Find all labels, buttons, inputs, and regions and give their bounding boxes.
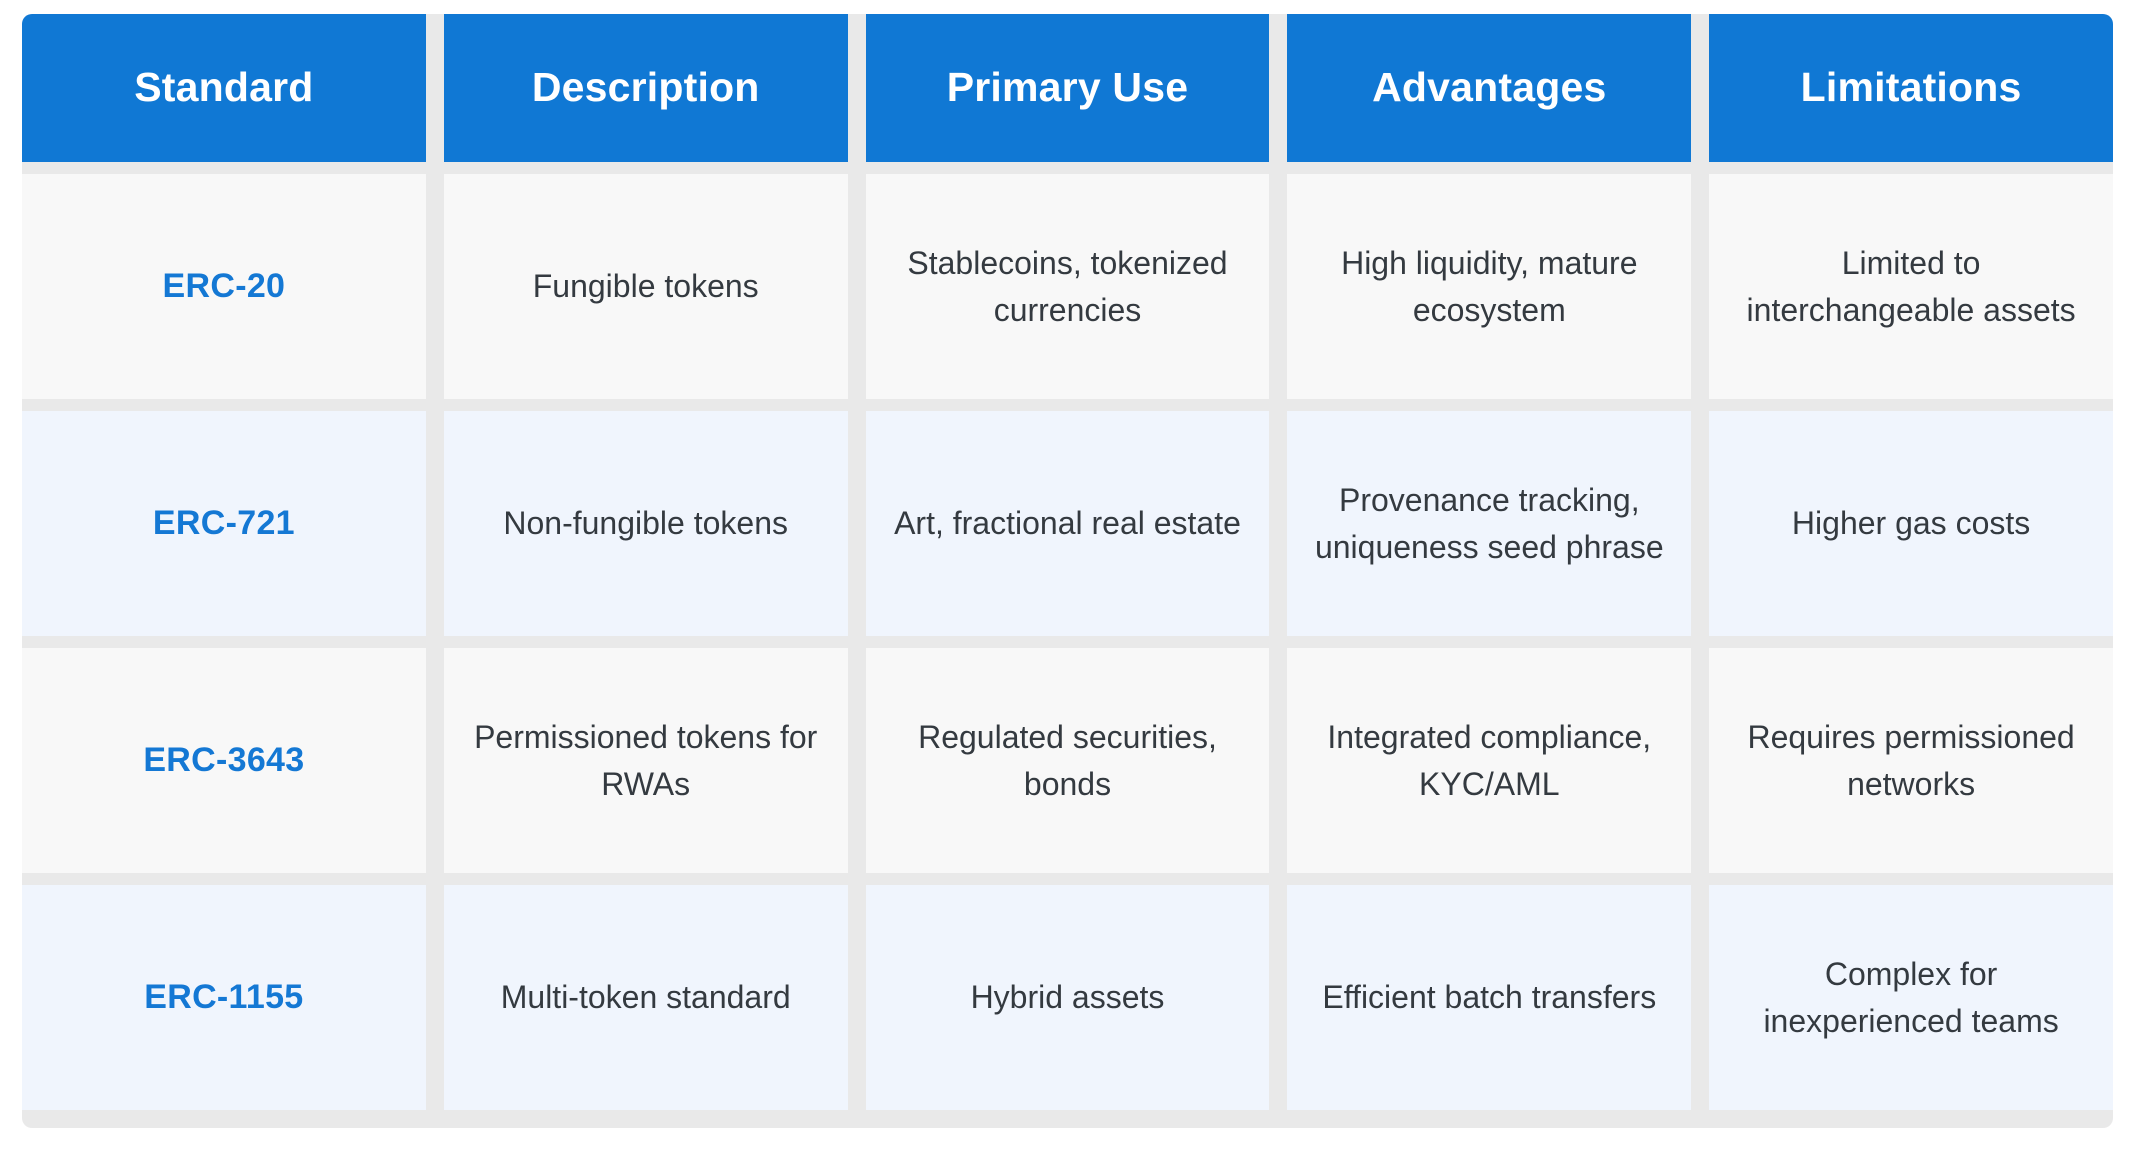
- standard-link[interactable]: ERC-721: [153, 499, 295, 548]
- cell-advantages: Integrated compliance, KYC/AML: [1287, 648, 1691, 873]
- cell-value: Provenance tracking, uniqueness seed phr…: [1309, 477, 1669, 570]
- table-row: ERC-3643 Permissioned tokens for RWAs Re…: [22, 636, 2113, 873]
- column-header-label: Standard: [134, 64, 313, 111]
- column-header-standard[interactable]: Standard: [22, 14, 426, 162]
- cell-primary-use: Regulated securities, bonds: [866, 648, 1270, 873]
- comparison-table: Standard Description Primary Use Advanta…: [22, 14, 2113, 1128]
- column-header-label: Limitations: [1801, 64, 2022, 111]
- cell-primary-use: Hybrid assets: [866, 885, 1270, 1110]
- page-root: Standard Description Primary Use Advanta…: [0, 0, 2135, 1151]
- cell-value: Fungible tokens: [533, 263, 759, 309]
- cell-value: Regulated securities, bonds: [888, 714, 1248, 807]
- cell-value: Efficient batch transfers: [1322, 974, 1656, 1020]
- table-row: ERC-1155 Multi-token standard Hybrid ass…: [22, 873, 2113, 1128]
- cell-primary-use: Art, fractional real estate: [866, 411, 1270, 636]
- standard-link[interactable]: ERC-1155: [144, 973, 303, 1022]
- cell-description: Fungible tokens: [444, 174, 848, 399]
- table-row: ERC-721 Non-fungible tokens Art, fractio…: [22, 399, 2113, 636]
- cell-description: Multi-token standard: [444, 885, 848, 1110]
- cell-limitations: Complex for inexperienced teams: [1709, 885, 2113, 1110]
- standard-link[interactable]: ERC-3643: [143, 736, 304, 785]
- cell-value: Limited to interchangeable assets: [1731, 240, 2091, 333]
- column-header-label: Description: [532, 64, 760, 111]
- cell-limitations: Requires permissioned networks: [1709, 648, 2113, 873]
- table-row: ERC-20 Fungible tokens Stablecoins, toke…: [22, 162, 2113, 399]
- cell-value: Higher gas costs: [1792, 500, 2030, 546]
- cell-value: Requires permissioned networks: [1731, 714, 2091, 807]
- cell-value: Multi-token standard: [501, 974, 791, 1020]
- cell-standard[interactable]: ERC-721: [22, 411, 426, 636]
- cell-value: Integrated compliance, KYC/AML: [1309, 714, 1669, 807]
- cell-advantages: Provenance tracking, uniqueness seed phr…: [1287, 411, 1691, 636]
- cell-standard[interactable]: ERC-1155: [22, 885, 426, 1110]
- column-header-advantages[interactable]: Advantages: [1287, 14, 1691, 162]
- column-header-label: Primary Use: [947, 64, 1189, 111]
- cell-limitations: Higher gas costs: [1709, 411, 2113, 636]
- column-header-description[interactable]: Description: [444, 14, 848, 162]
- cell-description: Non-fungible tokens: [444, 411, 848, 636]
- column-header-primary-use[interactable]: Primary Use: [866, 14, 1270, 162]
- cell-description: Permissioned tokens for RWAs: [444, 648, 848, 873]
- cell-standard[interactable]: ERC-20: [22, 174, 426, 399]
- standard-link[interactable]: ERC-20: [163, 262, 286, 311]
- cell-value: Art, fractional real estate: [894, 500, 1241, 546]
- column-header-limitations[interactable]: Limitations: [1709, 14, 2113, 162]
- cell-advantages: High liquidity, mature ecosystem: [1287, 174, 1691, 399]
- cell-value: Complex for inexperienced teams: [1731, 951, 2091, 1044]
- cell-value: Stablecoins, tokenized currencies: [888, 240, 1248, 333]
- cell-value: Hybrid assets: [971, 974, 1165, 1020]
- table-header-row: Standard Description Primary Use Advanta…: [22, 14, 2113, 162]
- column-header-label: Advantages: [1372, 64, 1606, 111]
- cell-standard[interactable]: ERC-3643: [22, 648, 426, 873]
- table-body: ERC-20 Fungible tokens Stablecoins, toke…: [22, 162, 2113, 1128]
- cell-advantages: Efficient batch transfers: [1287, 885, 1691, 1110]
- cell-limitations: Limited to interchangeable assets: [1709, 174, 2113, 399]
- cell-value: Non-fungible tokens: [503, 500, 788, 546]
- cell-value: High liquidity, mature ecosystem: [1309, 240, 1669, 333]
- cell-value: Permissioned tokens for RWAs: [466, 714, 826, 807]
- cell-primary-use: Stablecoins, tokenized currencies: [866, 174, 1270, 399]
